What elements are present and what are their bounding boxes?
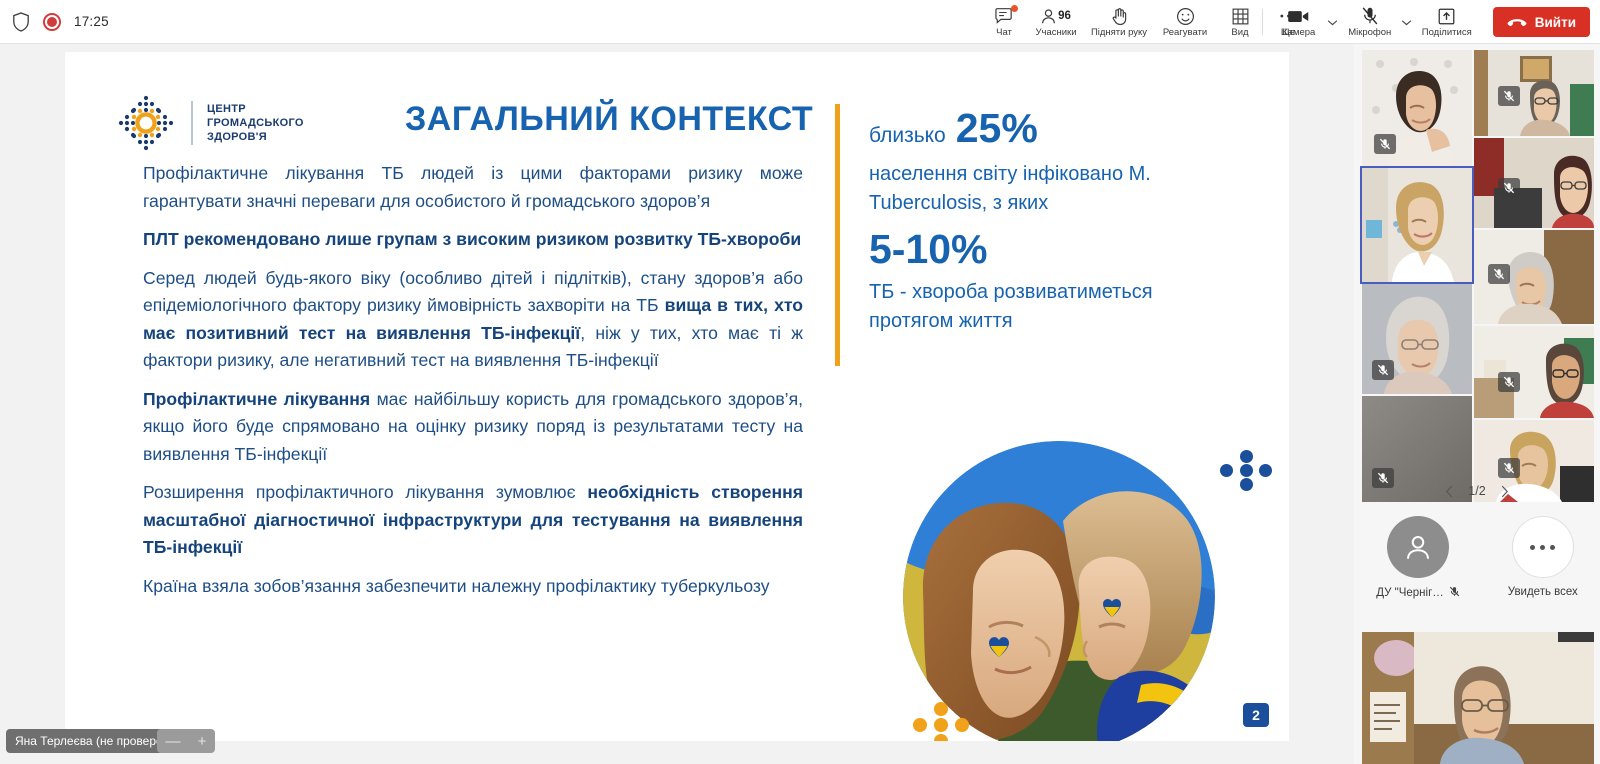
raise-hand-icon: [1111, 7, 1128, 26]
toolbar-left-group: 17:25: [0, 12, 109, 32]
microphone-control-group: Мікрофон: [1341, 0, 1415, 44]
leave-meeting-label: Вийти: [1535, 15, 1576, 30]
paragraph-5: Розширення профілактичного лікування зум…: [143, 479, 803, 562]
see-all-button[interactable]: Увидеть всех: [1508, 516, 1578, 600]
people-icon: 96: [1041, 7, 1071, 26]
toolbar-view-label: Вид: [1231, 27, 1248, 38]
decorative-dots-orange: [913, 702, 971, 741]
participants-rail: 1/2 ДУ "Черніг…: [1354, 44, 1600, 764]
stat-body-1: населення світу інфіковано M. Tuberculos…: [869, 160, 1215, 218]
logo-divider: [191, 101, 193, 145]
toolbar-chat-button[interactable]: Чат: [980, 0, 1028, 44]
paragraph-1: Профілактичне лікування ТБ людей із цими…: [143, 160, 803, 215]
slide-body-text: Профілактичне лікування ТБ людей із цими…: [143, 160, 803, 611]
mic-off-badge: [1374, 134, 1396, 154]
toolbar-divider: [1262, 9, 1263, 35]
microphone-chevron-down-icon[interactable]: [1399, 0, 1415, 44]
participant-tile-2[interactable]: [1474, 50, 1594, 136]
more-icon: [1512, 516, 1574, 578]
toolbar-raise-hand-button[interactable]: Підняти руку: [1084, 0, 1154, 44]
zoom-in-button[interactable]: +: [198, 734, 207, 749]
pager-label: 1/2: [1468, 484, 1485, 498]
slide-logo: ЦЕНТР ГРОМАДСЬКОГО ЗДОРОВ'Я: [115, 92, 304, 154]
toolbar-react-label: Реагувати: [1163, 27, 1207, 38]
toolbar-react-button[interactable]: Реагувати: [1154, 0, 1216, 44]
stat-value-1: 25%: [956, 104, 1038, 152]
camera-icon: [1287, 7, 1310, 26]
mic-off-badge: [1498, 178, 1520, 198]
phone-hangup-icon: [1507, 15, 1527, 30]
avatar: [1387, 516, 1449, 578]
stat-prefix: близько: [869, 124, 946, 148]
mic-off-badge: [1372, 360, 1394, 380]
participants-pager: 1/2: [1354, 484, 1600, 498]
microphone-off-icon: [1361, 7, 1379, 26]
toolbar-share-label: Поділитися: [1422, 27, 1472, 38]
accent-rule: [835, 104, 840, 366]
paragraph-3: Серед людей будь-якого віку (особливо ді…: [143, 265, 803, 375]
toolbar-participants-label: Учасники: [1035, 27, 1076, 38]
zoom-out-button[interactable]: —: [166, 734, 181, 749]
mic-off-badge: [1498, 458, 1520, 478]
participant-tile-10[interactable]: [1362, 632, 1594, 764]
chat-icon: [994, 7, 1015, 26]
slide-statistics: близько 25% населення світу інфіковано M…: [835, 104, 1215, 336]
toolbar-microphone-label: Мікрофон: [1348, 27, 1391, 38]
shield-icon: [12, 12, 30, 32]
toolbar-microphone-button[interactable]: Мікрофон: [1341, 0, 1399, 44]
leave-meeting-button[interactable]: Вийти: [1493, 7, 1590, 37]
slide-title: ЗАГАЛЬНИЙ КОНТЕКСТ: [405, 100, 813, 139]
paragraph-6: Країна взяла зобов’язання забезпечити на…: [143, 573, 803, 601]
meeting-toolbar: 17:25 Чат 96: [0, 0, 1600, 44]
see-all-label: Увидеть всех: [1508, 586, 1578, 598]
participant-tile-7[interactable]: [1474, 230, 1594, 324]
paragraph-2: ПЛТ рекомендовано лише групам з високим …: [143, 226, 803, 254]
chat-unread-badge: [1011, 5, 1018, 12]
presentation-stage: ЦЕНТР ГРОМАДСЬКОГО ЗДОРОВ'Я ЗАГАЛЬНИЙ КО…: [0, 44, 1354, 744]
toolbar-share-button[interactable]: Поділитися: [1415, 0, 1479, 44]
toolbar-raise-hand-label: Підняти руку: [1091, 27, 1147, 38]
participant-tile-8[interactable]: [1474, 326, 1594, 418]
mic-off-badge: [1498, 86, 1520, 106]
paragraph-4: Профілактичне лікування має найбільшу ко…: [143, 386, 803, 469]
record-icon[interactable]: [43, 13, 61, 31]
phc-logo-icon: [115, 92, 177, 154]
decorative-dots-blue: [1220, 450, 1272, 490]
mother-and-child-photo: [903, 441, 1215, 741]
self-participant-button[interactable]: ДУ "Черніг…: [1376, 516, 1460, 600]
camera-control-group: Камера: [1273, 0, 1341, 44]
slide-canvas: ЦЕНТР ГРОМАДСЬКОГО ЗДОРОВ'Я ЗАГАЛЬНИЙ КО…: [65, 52, 1289, 741]
participant-tile-4[interactable]: [1362, 168, 1472, 282]
stat-value-2: 5-10%: [869, 222, 1215, 276]
pager-next-button[interactable]: [1500, 485, 1509, 498]
camera-chevron-down-icon[interactable]: [1325, 0, 1341, 44]
participants-count: 96: [1058, 10, 1071, 22]
stat-body-2: ТБ - хвороба розвиватиметься протягом жи…: [869, 278, 1215, 336]
share-screen-icon: [1438, 7, 1455, 26]
participant-tile-1[interactable]: [1362, 50, 1472, 166]
toolbar-camera-label: Камера: [1282, 27, 1315, 38]
toolbar-participants-button[interactable]: 96 Учасники: [1028, 0, 1084, 44]
zoom-controls: — +: [157, 729, 215, 753]
rail-action-buttons: ДУ "Черніг… Увидеть всех: [1354, 516, 1600, 600]
toolbar-camera-button[interactable]: Камера: [1273, 0, 1325, 44]
meeting-clock: 17:25: [74, 14, 109, 29]
meeting-window: 17:25 Чат 96: [0, 0, 1600, 764]
participant-tile-3[interactable]: [1474, 138, 1594, 228]
grid-view-icon: [1232, 7, 1249, 26]
participant-tile-5[interactable]: [1362, 284, 1472, 394]
mic-off-badge: [1488, 264, 1510, 284]
toolbar-right-group: Камера Мікрофон: [1252, 0, 1590, 44]
self-participant-label: ДУ "Черніг…: [1376, 586, 1460, 600]
slide-number-badge: 2: [1243, 703, 1269, 727]
emoji-icon: [1176, 7, 1195, 26]
pager-prev-button[interactable]: [1445, 485, 1454, 498]
toolbar-chat-label: Чат: [996, 27, 1012, 38]
mic-off-icon: [1449, 586, 1460, 600]
mic-off-badge: [1498, 372, 1520, 392]
logo-text: ЦЕНТР ГРОМАДСЬКОГО ЗДОРОВ'Я: [207, 102, 304, 144]
